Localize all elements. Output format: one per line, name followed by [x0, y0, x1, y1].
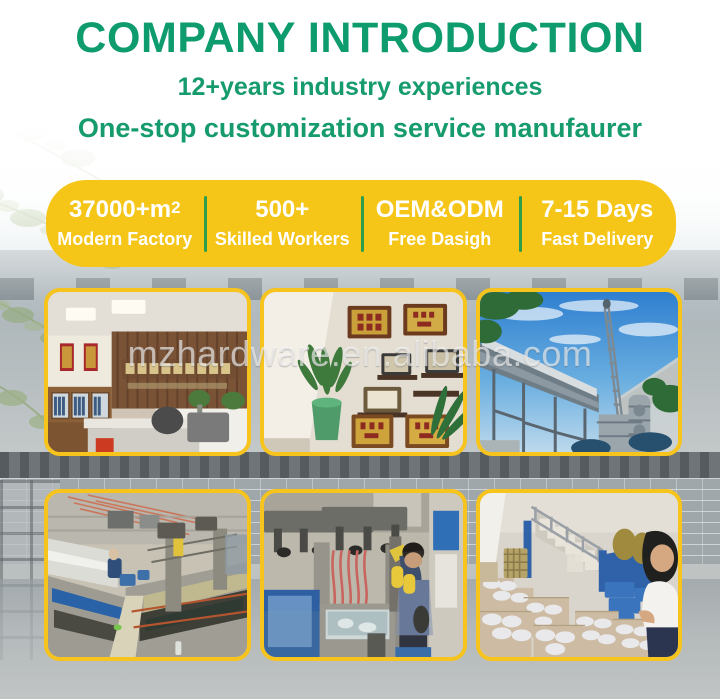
stat-value-area: 37000+m2	[50, 197, 200, 223]
photo-worker-plating-tanks-image	[264, 493, 463, 657]
stat-value-workers: 500+	[208, 197, 358, 223]
stat-value-delivery-days: 7-15 Days	[523, 197, 673, 223]
stat-label-free-design: Free Dasigh	[365, 230, 515, 250]
page-subtitle-service: One-stop customization service manufaure…	[0, 113, 720, 144]
company-introduction-page: COMPANY INTRODUCTION 12+years industry e…	[0, 0, 720, 699]
photo-worker-plating-tanks[interactable]	[260, 489, 467, 661]
stat-label-modern-factory: Modern Factory	[50, 230, 200, 250]
stat-item-delivery: 7-15 Days Fast Delivery	[519, 197, 677, 250]
photo-certificates-wall[interactable]	[260, 288, 467, 456]
photo-row-top	[44, 288, 682, 456]
header-block: COMPANY INTRODUCTION 12+years industry e…	[0, 14, 720, 144]
stat-item-oem-odm: OEM&ODM Free Dasigh	[361, 197, 519, 250]
stat-label-fast-delivery: Fast Delivery	[523, 230, 673, 250]
page-subtitle-experience: 12+years industry experiences	[0, 73, 720, 102]
photo-row-bottom	[44, 489, 682, 661]
photo-certificates-wall-image	[264, 292, 463, 452]
photo-office-showroom[interactable]	[44, 288, 251, 456]
stat-value-oem-odm: OEM&ODM	[365, 197, 515, 223]
photo-factory-exterior-pipes-image	[480, 292, 678, 452]
stats-banner: 37000+m2 Modern Factory 500+ Skilled Wor…	[46, 180, 676, 267]
photo-office-showroom-image	[48, 292, 247, 452]
photo-plating-line-image	[48, 493, 247, 657]
photo-packing-warehouse[interactable]	[476, 489, 682, 661]
stat-value-area-unit: m	[150, 196, 171, 223]
photo-plating-line[interactable]	[44, 489, 251, 661]
photo-gallery	[44, 288, 682, 661]
page-title: COMPANY INTRODUCTION	[0, 14, 720, 62]
stat-value-area-number: 37000+	[69, 196, 150, 223]
stat-item-modern-factory: 37000+m2 Modern Factory	[46, 197, 204, 250]
stat-label-skilled-workers: Skilled Workers	[208, 230, 358, 250]
photo-packing-warehouse-image	[480, 493, 678, 657]
stat-value-area-unit-superscript: 2	[171, 198, 180, 217]
photo-factory-exterior-pipes[interactable]	[476, 288, 682, 456]
stat-item-skilled-workers: 500+ Skilled Workers	[204, 197, 362, 250]
